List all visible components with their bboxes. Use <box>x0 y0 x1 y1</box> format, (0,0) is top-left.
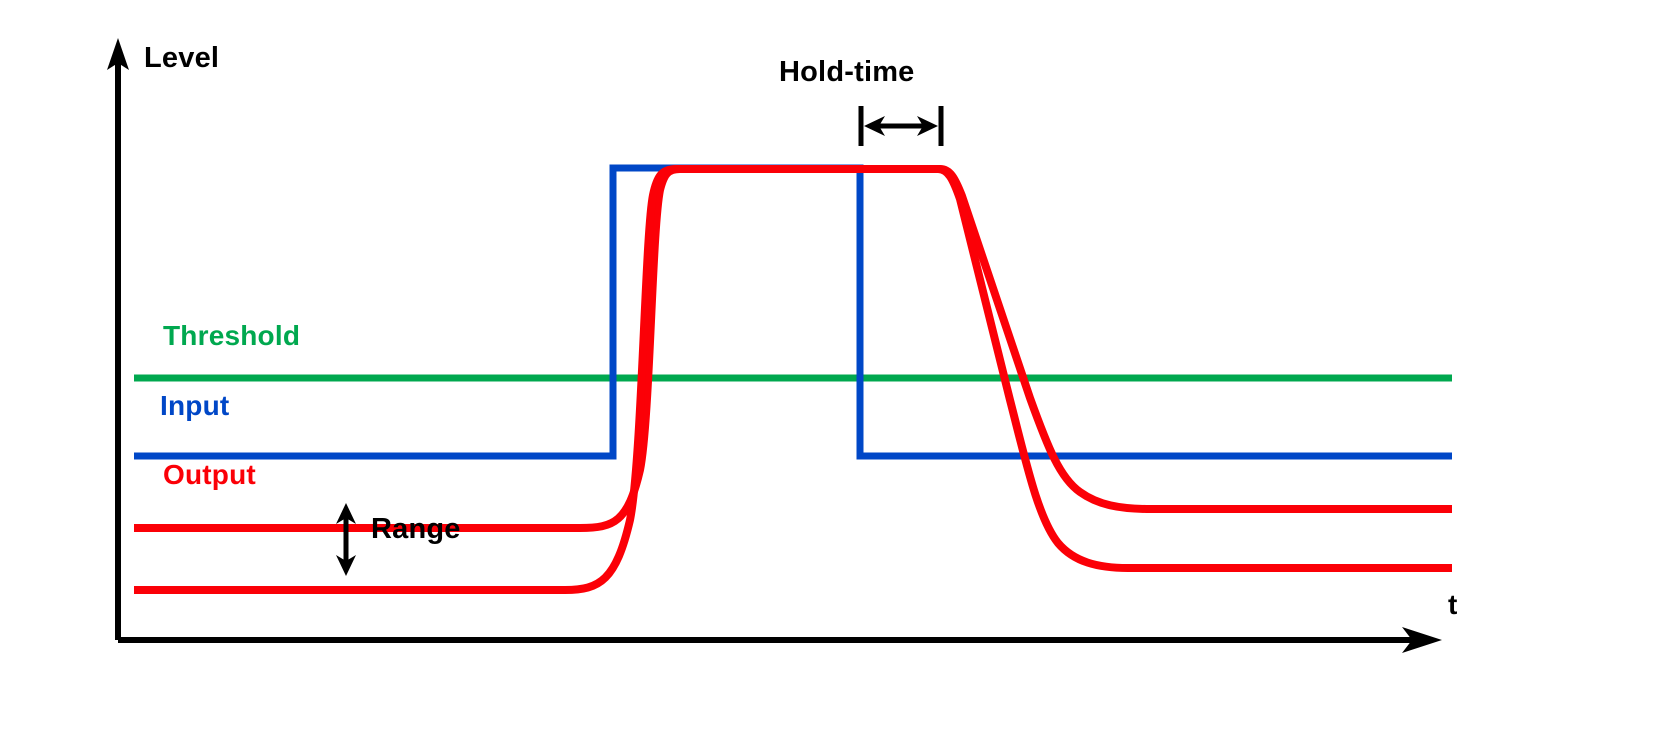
hold-time-annotation <box>861 106 941 146</box>
input-step-line <box>134 168 1452 456</box>
input-series <box>134 168 1452 456</box>
diagram-canvas: Level Hold-time Threshold Input Output R… <box>0 0 1659 733</box>
output-curve-upper <box>134 169 1452 528</box>
y-axis-label: Level <box>144 44 219 73</box>
x-axis-label: t <box>1448 591 1458 619</box>
axis-group <box>107 38 1442 653</box>
threshold-label: Threshold <box>163 322 300 350</box>
input-label: Input <box>160 392 229 420</box>
output-label: Output <box>163 461 256 489</box>
level-time-plot <box>0 0 1659 733</box>
hold-time-label: Hold-time <box>779 58 915 87</box>
output-series-upper <box>134 169 1452 528</box>
range-annotation <box>336 503 356 576</box>
range-label: Range <box>371 515 461 544</box>
